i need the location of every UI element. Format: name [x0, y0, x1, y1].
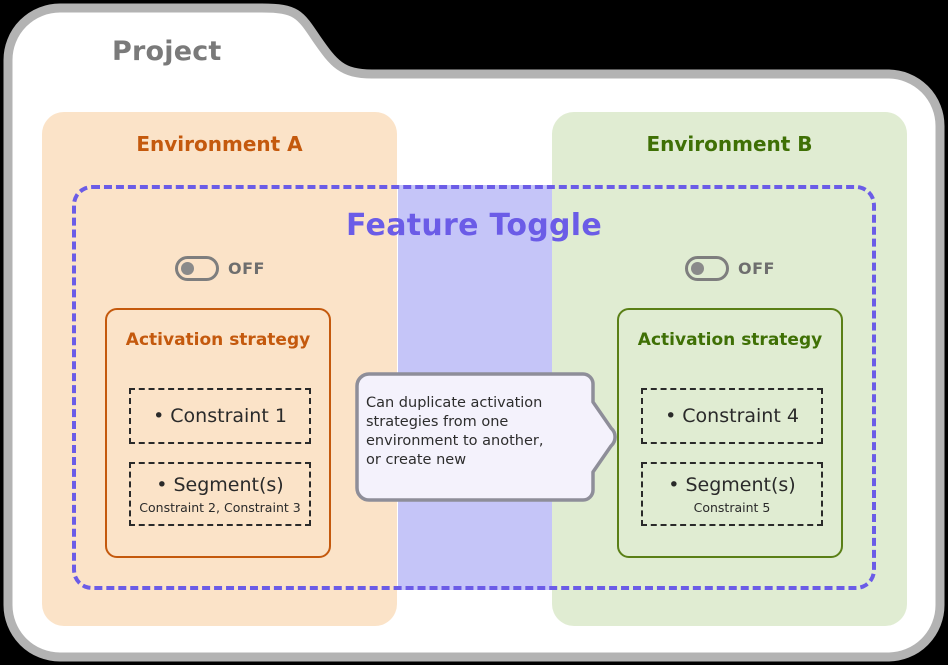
bullet-icon: • — [668, 474, 679, 496]
toggle-knob — [181, 262, 194, 275]
diagram-canvas: Project Environment A Environment B Feat… — [0, 0, 948, 665]
bullet-icon: • — [156, 474, 167, 496]
strategy-item-constraint-a1[interactable]: •Constraint 1 — [129, 388, 311, 444]
strategy-item-label: •Constraint 1 — [153, 405, 287, 427]
activation-strategy-title-a: Activation strategy — [107, 330, 329, 350]
feature-toggle-switch-b[interactable]: OFF — [685, 256, 775, 281]
environment-b-title: Environment B — [552, 132, 907, 156]
strategy-item-subtext: Constraint 2, Constraint 3 — [139, 500, 300, 515]
activation-strategy-card-a[interactable]: Activation strategy •Constraint 1 •Segme… — [105, 308, 331, 558]
strategy-item-label: •Segment(s) — [156, 474, 283, 496]
toggle-state-label-b: OFF — [738, 259, 775, 278]
callout-text: Can duplicate activation strategies from… — [366, 394, 561, 470]
strategy-item-text: Segment(s) — [685, 474, 795, 496]
environment-a-title: Environment A — [42, 132, 397, 156]
toggle-off-icon[interactable] — [685, 256, 729, 281]
strategy-item-subtext: Constraint 5 — [694, 500, 771, 515]
page-title: Project — [112, 36, 222, 67]
strategy-item-text: Segment(s) — [173, 474, 283, 496]
toggle-knob — [691, 262, 704, 275]
duplicate-strategies-callout: Can duplicate activation strategies from… — [343, 366, 617, 508]
strategy-item-segments-a[interactable]: •Segment(s) Constraint 2, Constraint 3 — [129, 462, 311, 526]
strategy-item-label: •Segment(s) — [668, 474, 795, 496]
toggle-off-icon[interactable] — [175, 256, 219, 281]
activation-strategy-card-b[interactable]: Activation strategy •Constraint 4 •Segme… — [617, 308, 843, 558]
strategy-item-segments-b[interactable]: •Segment(s) Constraint 5 — [641, 462, 823, 526]
toggle-state-label-a: OFF — [228, 259, 265, 278]
feature-toggle-title: Feature Toggle — [0, 208, 948, 243]
strategy-item-constraint-b1[interactable]: •Constraint 4 — [641, 388, 823, 444]
strategy-item-text: Constraint 4 — [682, 405, 799, 427]
strategy-item-label: •Constraint 4 — [665, 405, 799, 427]
feature-toggle-switch-a[interactable]: OFF — [175, 256, 265, 281]
bullet-icon: • — [153, 405, 164, 427]
bullet-icon: • — [665, 405, 676, 427]
activation-strategy-title-b: Activation strategy — [619, 330, 841, 350]
strategy-item-text: Constraint 1 — [170, 405, 287, 427]
